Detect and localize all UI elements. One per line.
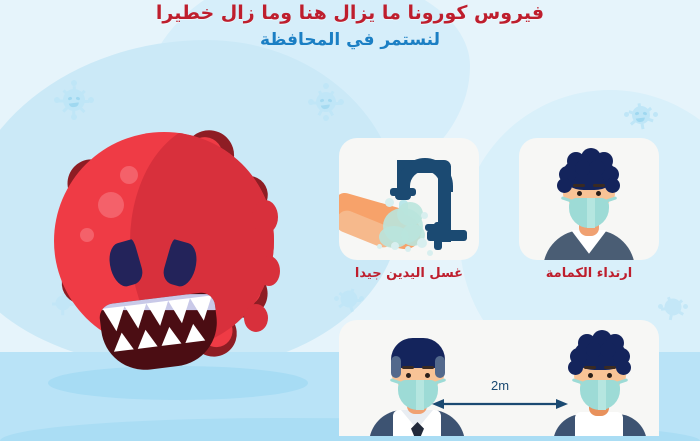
virus-body-bump: [258, 256, 280, 286]
person-wearing-face-mask-icon: [519, 138, 659, 260]
card-wear-mask[interactable]: [519, 138, 659, 260]
virus-icon: [656, 290, 690, 324]
eye: [425, 373, 430, 378]
eye: [596, 191, 601, 196]
distance-label: 2m: [462, 378, 538, 393]
caption-wear-mask: ارتداء الكمامة: [519, 266, 659, 281]
virus-mouth: [98, 291, 222, 375]
eyebrow: [573, 184, 585, 187]
person-left: [359, 326, 479, 436]
page-subtitle: لنستمر في المحافظة: [0, 24, 700, 51]
eyebrow: [584, 366, 596, 369]
distance-arrow-icon: [432, 398, 568, 410]
virus-body-bump: [244, 304, 268, 332]
eye: [607, 373, 612, 378]
virus-icon: [622, 96, 660, 134]
hair-side: [391, 356, 401, 378]
person-right: [539, 326, 659, 436]
virus-body-bump: [252, 200, 278, 234]
poster-canvas: فيروس كورونا ما يزال هنا وما زال خطيرا ل…: [0, 0, 700, 441]
eye: [577, 191, 582, 196]
eyebrow: [422, 366, 434, 369]
face-mask: [569, 198, 609, 228]
eyebrow: [604, 366, 616, 369]
eyebrow: [593, 184, 605, 187]
card-wash-hands[interactable]: [339, 138, 479, 260]
eye: [588, 373, 593, 378]
poster-heading-block: فيروس كورونا ما يزال هنا وما زال خطيرا ل…: [0, 0, 700, 51]
coronavirus-mascot: [6, 60, 326, 430]
hands-washing-under-faucet-icon: [339, 138, 479, 260]
face-mask: [580, 380, 620, 410]
caption-wash-hands: غسل اليدين جيدا: [339, 266, 479, 281]
eye: [406, 373, 411, 378]
eyebrow: [402, 366, 414, 369]
page-title: فيروس كورونا ما يزال هنا وما زال خطيرا: [0, 0, 700, 24]
virus-icon: [332, 282, 366, 316]
hair-side: [435, 356, 445, 378]
